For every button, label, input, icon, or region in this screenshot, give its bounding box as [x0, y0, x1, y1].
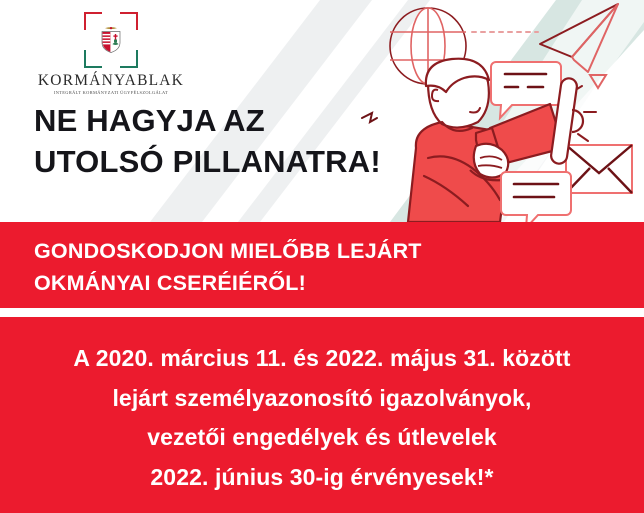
logo-wordmark: KORMÁNYABLAK: [36, 73, 186, 89]
band-two-line-1: A 2020. március 11. és 2022. május 31. k…: [0, 339, 644, 379]
speech-bubble-lower-icon: [501, 172, 571, 222]
bracket-bottom-left: [84, 50, 102, 68]
band-two-line-4: 2022. június 30-ig érvényesek!*: [0, 458, 644, 498]
red-band-primary: GONDOSKODJON MIELŐBB LEJÁRT OKMÁNYAI CSE…: [0, 222, 644, 308]
logo-tagline: INTEGRÁLT KORMÁNYZATI ÜGYFÉLSZOLGÁLAT: [36, 90, 186, 95]
band-two-line-3: vezetői engedélyek és útlevelek: [0, 418, 644, 458]
bracket-top-right: [120, 12, 138, 30]
headline: NE HAGYJA AZ UTOLSÓ PILLANATRA!: [34, 100, 381, 182]
kormanyablak-logo: KORMÁNYABLAK INTEGRÁLT KORMÁNYZATI ÜGYFÉ…: [36, 12, 186, 95]
band-divider: [0, 308, 644, 317]
hungarian-coat-of-arms-icon: [101, 27, 121, 54]
band-two-line-2: lejárt személyazonosító igazolványok,: [0, 379, 644, 419]
band-one-line-2: OKMÁNYAI CSERÉIÉRŐL!: [34, 268, 644, 300]
red-band-secondary-text: A 2020. március 11. és 2022. május 31. k…: [0, 317, 644, 497]
envelope-icon: [566, 145, 632, 193]
band-one-line-1: GONDOSKODJON MIELŐBB LEJÁRT: [34, 236, 644, 268]
headline-line-2: UTOLSÓ PILLANATRA!: [34, 141, 381, 182]
red-band-primary-text: GONDOSKODJON MIELŐBB LEJÁRT OKMÁNYAI CSE…: [0, 222, 644, 299]
man-with-megaphone-illustration: [350, 0, 644, 222]
crest-frame: [84, 12, 138, 68]
red-band-secondary: A 2020. március 11. és 2022. május 31. k…: [0, 317, 644, 513]
poster-root: KORMÁNYABLAK INTEGRÁLT KORMÁNYZATI ÜGYFÉ…: [0, 0, 644, 513]
sparkle-icon: [362, 113, 377, 122]
headline-line-1: NE HAGYJA AZ: [34, 100, 381, 141]
bracket-bottom-right: [120, 50, 138, 68]
header-area: KORMÁNYABLAK INTEGRÁLT KORMÁNYZATI ÜGYFÉ…: [0, 0, 644, 222]
bracket-top-left: [84, 12, 102, 30]
